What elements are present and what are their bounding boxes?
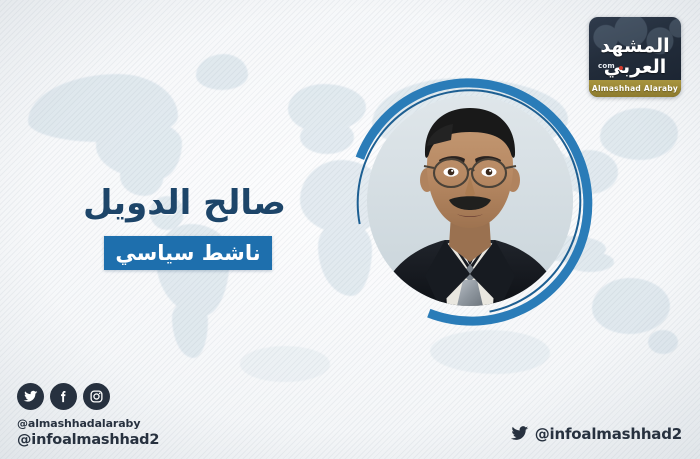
twitter-bird-icon xyxy=(510,424,529,443)
facebook-icon[interactable] xyxy=(50,383,77,410)
portrait-illustration xyxy=(367,96,573,306)
person-name: صالح الدويل xyxy=(0,186,286,220)
role-badge: ناشط سياسي xyxy=(104,236,272,270)
social-handle-secondary[interactable]: @infoalmashhad2 xyxy=(17,432,159,448)
logo-com-label: com xyxy=(598,62,615,70)
social-icon-row xyxy=(17,383,159,410)
portrait-frame xyxy=(348,78,592,326)
logo-name-strip: Almashhad Alaraby xyxy=(589,80,681,97)
profile-card: المشهد العربي com Almashhad Alaraby xyxy=(0,0,700,459)
role-badge-text: ناشط سياسي xyxy=(115,243,260,264)
twitter-icon[interactable] xyxy=(17,383,44,410)
almashhad-alaraby-logo[interactable]: المشهد العربي com Almashhad Alaraby xyxy=(589,17,681,97)
logo-red-dot-icon xyxy=(619,66,623,70)
instagram-icon[interactable] xyxy=(83,383,110,410)
logo-arabic-line1: المشهد xyxy=(589,37,681,56)
social-block: @almashhadalaraby @infoalmashhad2 xyxy=(17,383,159,448)
logo-strip-text: Almashhad Alaraby xyxy=(592,84,678,93)
twitter-footer[interactable]: @infoalmashhad2 xyxy=(510,424,682,443)
social-handle-primary[interactable]: @almashhadalaraby xyxy=(17,417,159,430)
twitter-footer-handle: @infoalmashhad2 xyxy=(535,425,682,443)
portrait-photo xyxy=(367,96,573,306)
